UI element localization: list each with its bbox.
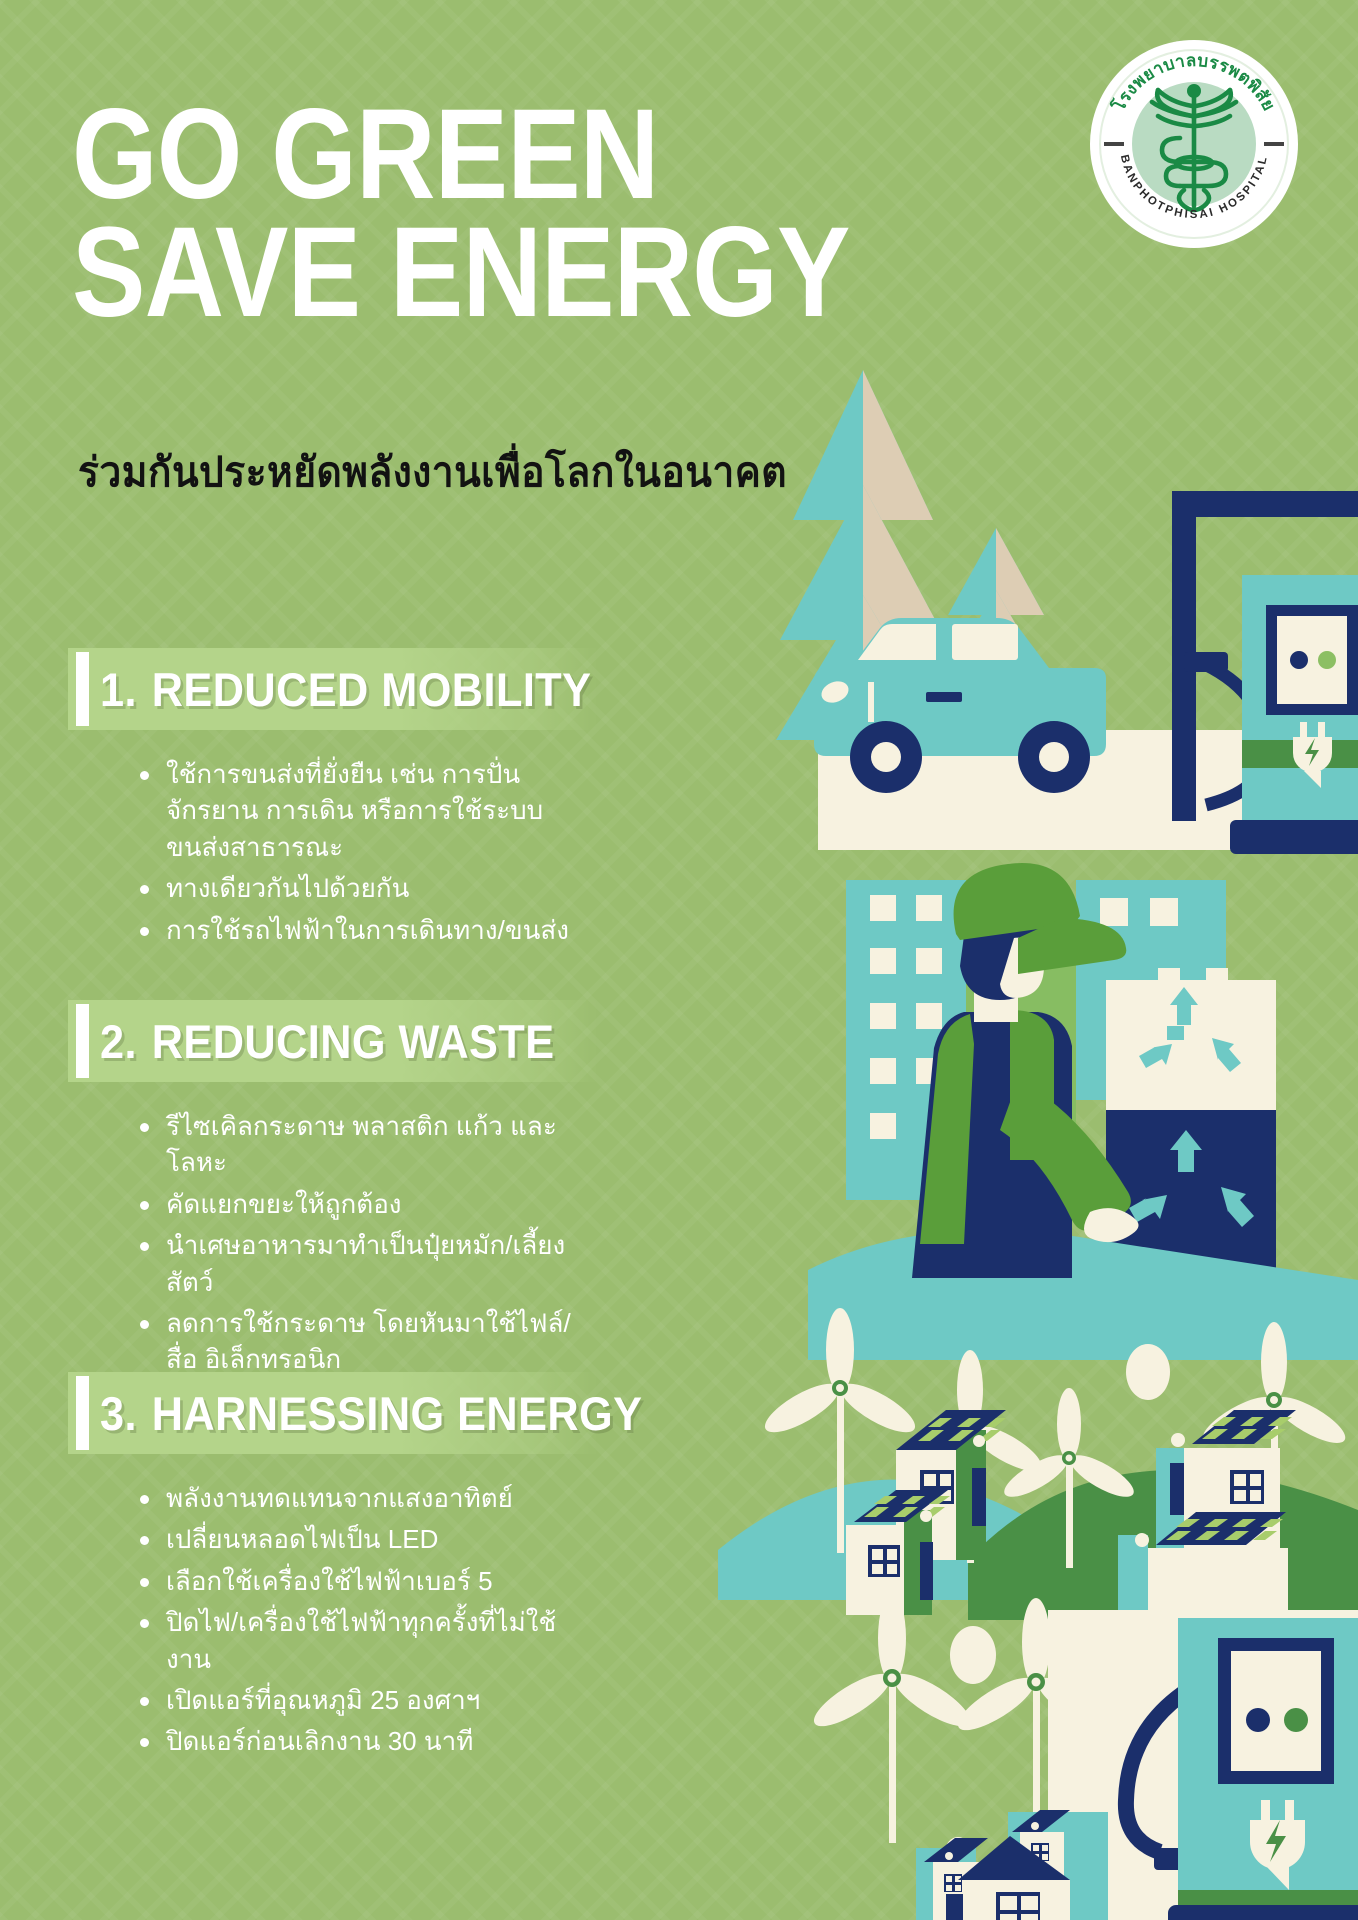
scene-ev-car — [776, 370, 1358, 854]
section-number: 3. — [100, 1387, 137, 1440]
list-item: ปิดแอร์ก่อนเลิกงาน 30 นาที — [140, 1723, 598, 1759]
section-bullet-list: พลังงานทดแทนจากแสงอาทิตย์ เปลี่ยนหลอดไฟเ… — [68, 1480, 598, 1760]
section-title-text: REDUCED MOBILITY — [152, 663, 592, 716]
list-item: เปิดแอร์ที่อุณหภูมิ 25 องศาฯ — [140, 1682, 598, 1718]
scene-recycling-worker — [808, 863, 1358, 1360]
list-item: พลังงานทดแทนจากแสงอาทิตย์ — [140, 1480, 598, 1516]
list-item: ใช้การขนส่งที่ยั่งยืน เช่น การปั่นจักรยา… — [140, 756, 598, 865]
logo-tick-right — [1264, 142, 1284, 146]
section-title: 2.REDUCING WASTE — [100, 1014, 555, 1069]
section-header: 2.REDUCING WASTE — [68, 1000, 598, 1082]
hospital-logo: โรงพยาบาลบรรพตพิสัย BANPHOTPHISAI HOSPIT… — [1088, 38, 1300, 250]
section-accent-bar — [76, 1376, 89, 1450]
section-harnessing-energy: 3.HARNESSING ENERGY พลังงานทดแทนจากแสงอา… — [68, 1372, 598, 1765]
section-title: 1.REDUCED MOBILITY — [100, 662, 591, 717]
list-item: ลดการใช้กระดาษ โดยหันมาใช้ไฟล์/สื่อ อิเล… — [140, 1305, 598, 1378]
list-item: เลือกใช้เครื่องใช้ไฟฟ้าเบอร์ 5 — [140, 1563, 598, 1599]
section-reducing-waste: 2.REDUCING WASTE รีไซเคิลกระดาษ พลาสติก … — [68, 1000, 598, 1383]
section-reduced-mobility: 1.REDUCED MOBILITY ใช้การขนส่งที่ยั่งยืน… — [68, 648, 598, 953]
list-item: นำเศษอาหารมาทำเป็นปุ๋ยหมัก/เลี้ยงสัตว์ — [140, 1227, 598, 1300]
section-title-text: HARNESSING ENERGY — [152, 1387, 643, 1440]
list-item: รีไซเคิลกระดาษ พลาสติก แก้ว และโลหะ — [140, 1108, 598, 1181]
section-bullet-list: รีไซเคิลกระดาษ พลาสติก แก้ว และโลหะ คัดแ… — [68, 1108, 598, 1378]
subtitle-thai: ร่วมกันประหยัดพลังงานเพื่อโลกในอนาคต — [78, 440, 787, 505]
list-item: ทางเดียวกันไปด้วยกัน — [140, 870, 598, 906]
list-item: คัดแยกขยะให้ถูกต้อง — [140, 1186, 598, 1222]
section-number: 2. — [100, 1015, 137, 1068]
page-title: GO GREEN SAVE ENERGY — [72, 96, 832, 332]
ev-charger-large — [1168, 1618, 1358, 1920]
section-accent-bar — [76, 652, 89, 726]
section-title-text: REDUCING WASTE — [152, 1015, 555, 1068]
list-item: การใช้รถไฟฟ้าในการเดินทาง/ขนส่ง — [140, 912, 598, 948]
section-header: 1.REDUCED MOBILITY — [68, 648, 598, 730]
section-header: 3.HARNESSING ENERGY — [68, 1372, 598, 1454]
list-item: ปิดไฟ/เครื่องใช้ไฟฟ้าทุกครั้งที่ไม่ใช้งา… — [140, 1604, 598, 1677]
section-number: 1. — [100, 663, 137, 716]
scene-bottom-ev-charger — [807, 1594, 1358, 1920]
headline-line-2: SAVE ENERGY — [72, 214, 726, 332]
list-item: เปลี่ยนหลอดไฟเป็น LED — [140, 1521, 598, 1557]
poster-canvas: โรงพยาบาลบรรพตพิสัย BANPHOTPHISAI HOSPIT… — [0, 0, 1358, 1920]
headline-line-1: GO GREEN — [72, 96, 726, 214]
section-title: 3.HARNESSING ENERGY — [100, 1386, 642, 1441]
section-accent-bar — [76, 1004, 89, 1078]
logo-tick-left — [1104, 142, 1124, 146]
ev-charger-pillar — [1230, 575, 1358, 854]
section-bullet-list: ใช้การขนส่งที่ยั่งยืน เช่น การปั่นจักรยา… — [68, 756, 598, 948]
